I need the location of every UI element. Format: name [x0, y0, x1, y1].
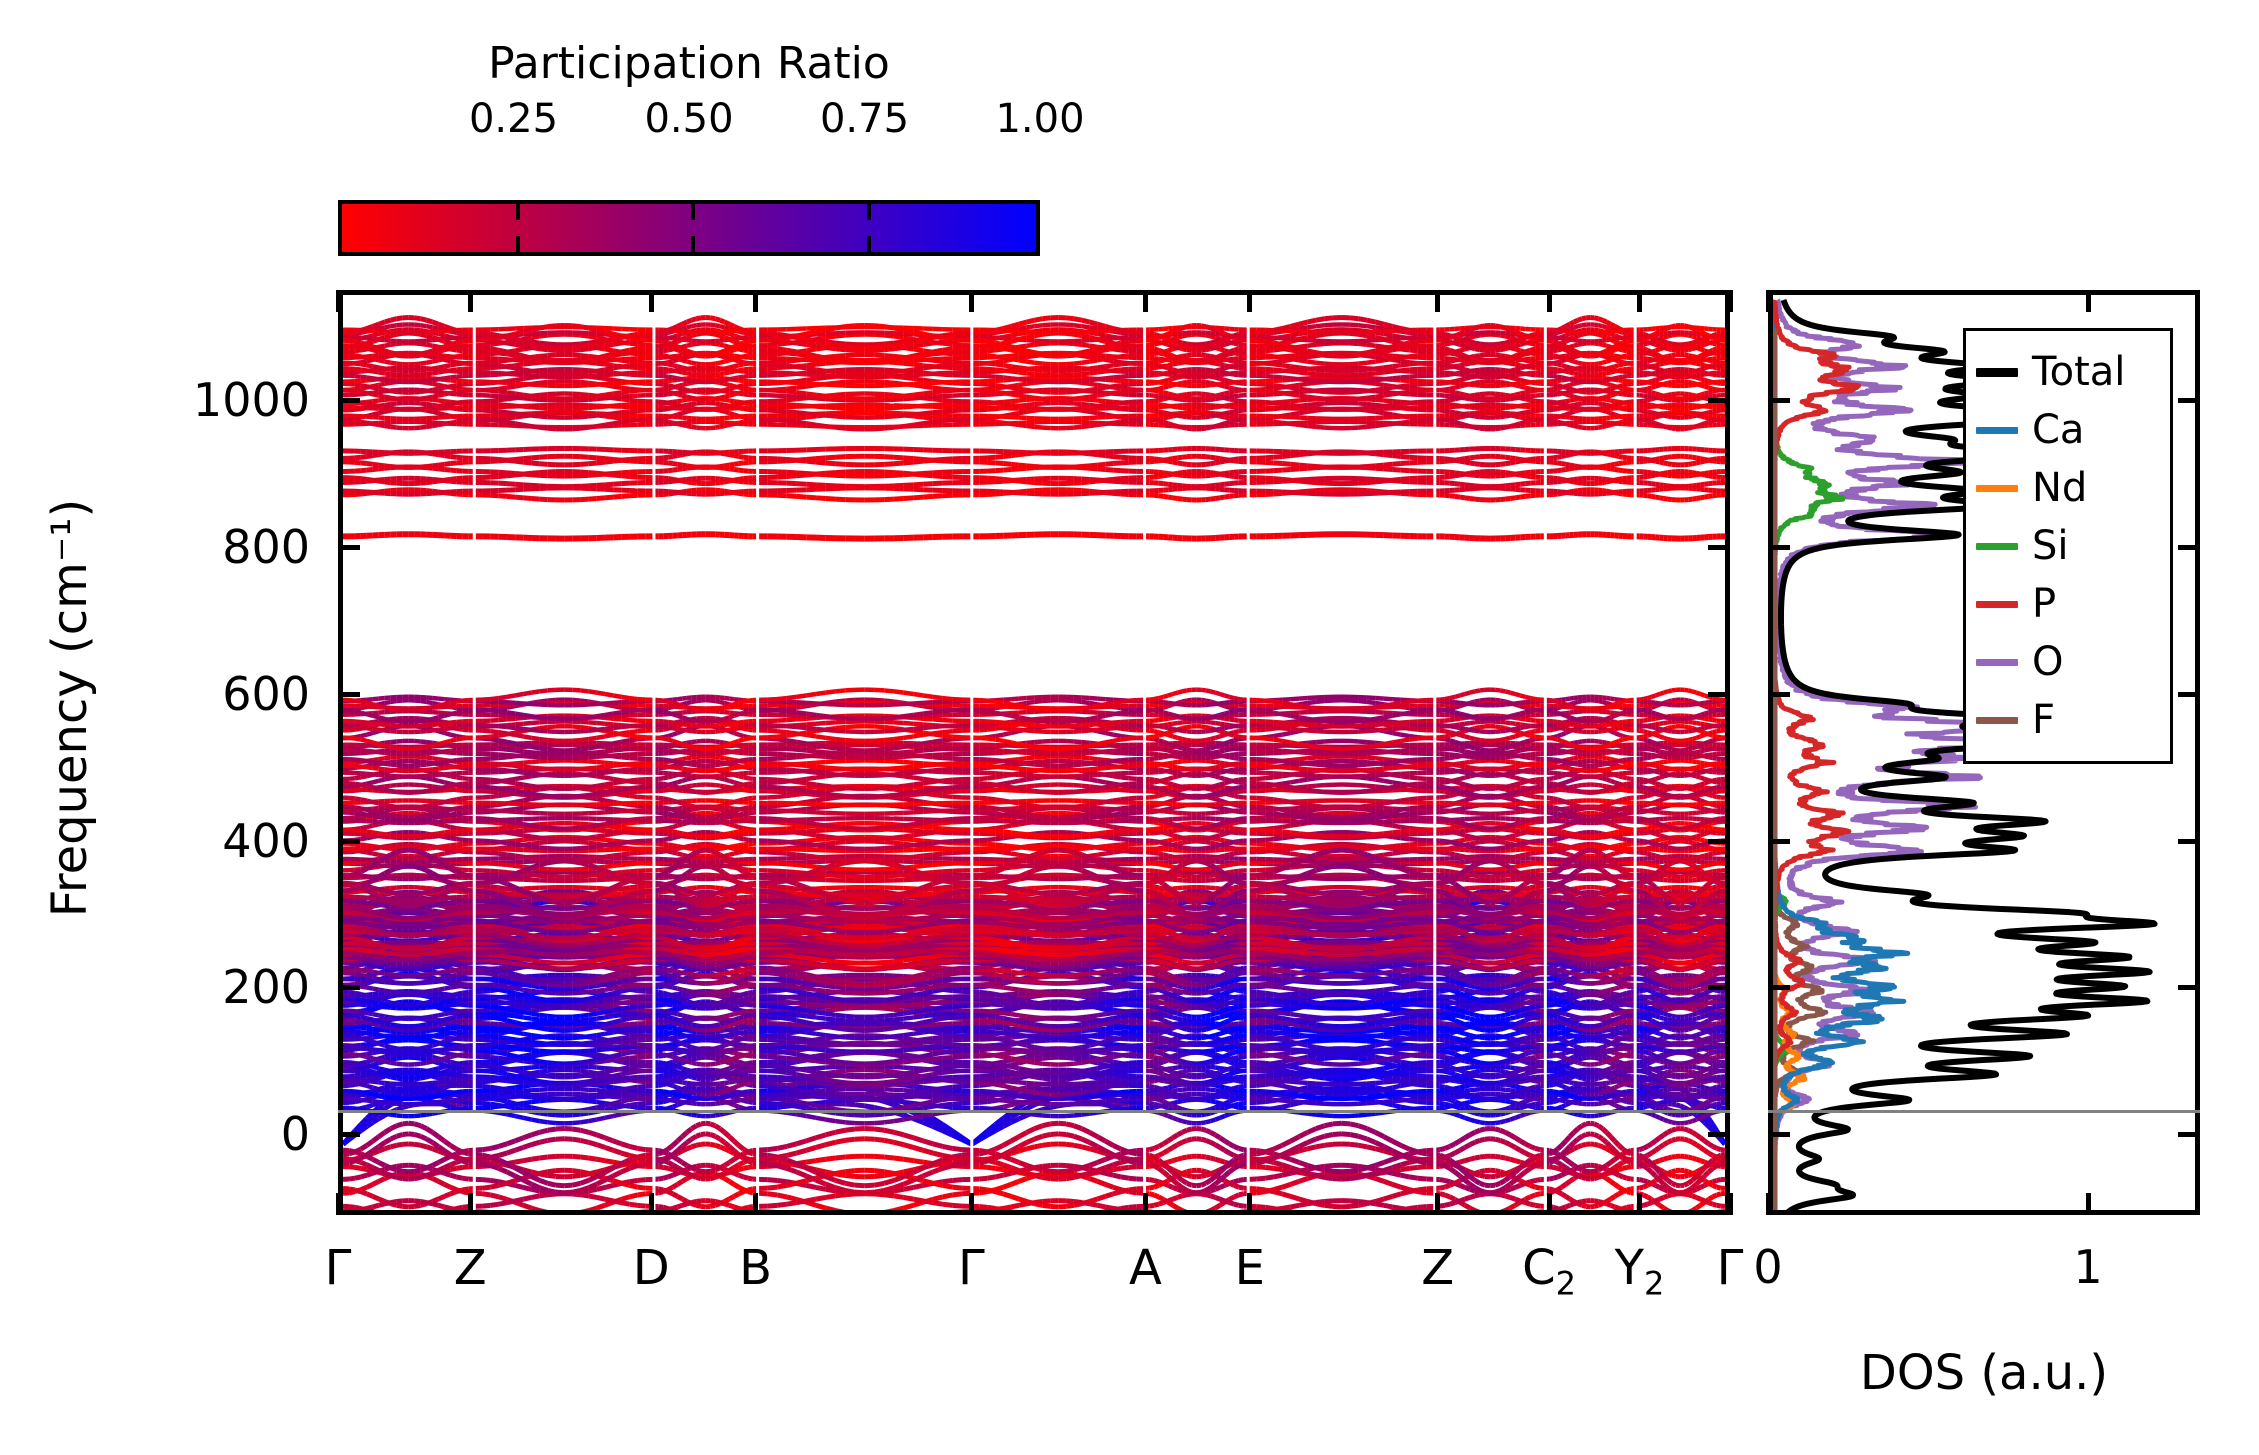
dos-y-axis-tick-mark — [1768, 692, 1790, 697]
colorbar-tick-mark — [516, 204, 520, 220]
x-axis-tick-label: B — [739, 1240, 772, 1296]
legend-item-o: O — [1976, 633, 2160, 691]
y-axis-tick-mark — [338, 985, 360, 990]
colorbar-tick-labels: 0.250.500.751.00 — [338, 96, 1040, 146]
dos-y-axis-tick-mark-right — [2178, 1132, 2200, 1137]
dos-zero-frequency-line — [1768, 1110, 2200, 1113]
legend-item-ca: Ca — [1976, 401, 2160, 459]
y-axis-tick-mark — [338, 398, 360, 403]
x-axis-tick-label: Z — [454, 1240, 487, 1296]
dos-y-axis-tick-mark — [1768, 1132, 1790, 1137]
legend-swatch-ca — [1976, 427, 2018, 434]
dos-x-axis-tick-label: 1 — [2073, 1240, 2102, 1294]
participation-ratio-colorbar — [338, 200, 1040, 256]
band-structure-axes — [338, 290, 1730, 1215]
legend-label: Nd — [2032, 468, 2087, 508]
legend-label: Ca — [2032, 410, 2084, 450]
y-axis-tick-mark — [338, 545, 360, 550]
y-axis-tick-mark-right — [1708, 985, 1730, 990]
colorbar-tick-label: 0.25 — [469, 96, 558, 142]
y-axis-tick-label: 200 — [222, 960, 310, 1014]
y-axis-tick-label: 600 — [222, 667, 310, 721]
zero-frequency-line — [338, 1110, 1730, 1113]
legend-swatch-nd — [1976, 485, 2018, 492]
y-axis-tick-mark-right — [1708, 398, 1730, 403]
legend-swatch-total — [1976, 368, 2018, 377]
y-axis-tick-mark — [338, 839, 360, 844]
colorbar-tick-mark — [867, 204, 871, 220]
y-axis-tick-label: 0 — [281, 1107, 310, 1161]
colorbar-tick-label: 0.75 — [820, 96, 909, 142]
x-axis-tick-label: Z — [1421, 1240, 1454, 1296]
x-axis-tick-label: D — [633, 1240, 670, 1296]
y-axis-tick-mark-right — [1708, 839, 1730, 844]
band-structure-plot — [343, 295, 1725, 1210]
dos-y-axis-tick-mark-right — [2178, 839, 2200, 844]
y-axis-tick-mark-right — [1708, 545, 1730, 550]
colorbar-tick-label: 1.00 — [995, 96, 1084, 142]
dos-y-axis-tick-mark-right — [2178, 692, 2200, 697]
colorbar-tick-mark — [691, 236, 695, 252]
y-axis-tick-label: 800 — [222, 520, 310, 574]
legend-swatch-p — [1976, 601, 2018, 608]
dos-y-axis-tick-mark-right — [2178, 985, 2200, 990]
y-axis-tick-labels: 02004006008001000 — [60, 0, 310, 1455]
x-axis-tick-label: E — [1235, 1240, 1265, 1296]
y-axis-tick-mark-right — [1708, 692, 1730, 697]
colorbar-tick-mark — [691, 204, 695, 220]
x-axis-tick-label: C2 — [1522, 1240, 1576, 1303]
legend-swatch-f — [1976, 717, 2018, 724]
legend-label: P — [2032, 584, 2056, 624]
legend-item-f: F — [1976, 691, 2160, 749]
x-axis-tick-label: Γ — [325, 1240, 352, 1296]
legend-item-nd: Nd — [1976, 459, 2160, 517]
dos-x-axis-tick-label: 0 — [1753, 1240, 1782, 1294]
colorbar-tick-mark — [867, 236, 871, 252]
x-axis-tick-label: Γ — [958, 1240, 985, 1296]
legend-item-si: Si — [1976, 517, 2160, 575]
dos-y-axis-tick-mark — [1768, 839, 1790, 844]
legend-label: Si — [2032, 526, 2069, 566]
dos-y-axis-tick-mark-right — [2178, 545, 2200, 550]
y-axis-tick-label: 400 — [222, 814, 310, 868]
x-axis-tick-label: A — [1129, 1240, 1162, 1296]
legend-swatch-si — [1976, 543, 2018, 550]
dos-x-axis-label: DOS (a.u.) — [1768, 1345, 2200, 1401]
dos-y-axis-tick-mark — [1768, 398, 1790, 403]
colorbar-tick-label: 0.50 — [644, 96, 733, 142]
colorbar-tick-mark — [516, 236, 520, 252]
y-axis-tick-mark — [338, 1132, 360, 1137]
colorbar-title: Participation Ratio — [338, 38, 1040, 90]
legend-item-total: Total — [1976, 343, 2160, 401]
y-axis-tick-mark-right — [1708, 1132, 1730, 1137]
dos-y-axis-tick-mark — [1768, 985, 1790, 990]
y-axis-tick-label: 1000 — [193, 373, 310, 427]
legend-swatch-o — [1976, 659, 2018, 666]
x-axis-tick-label: Γ — [1717, 1240, 1744, 1296]
dos-y-axis-tick-mark — [1768, 545, 1790, 550]
legend-label: Total — [2032, 352, 2125, 392]
dos-legend: TotalCaNdSiPOF — [1963, 328, 2173, 764]
legend-label: F — [2032, 700, 2055, 740]
dos-y-axis-tick-mark-right — [2178, 398, 2200, 403]
legend-item-p: P — [1976, 575, 2160, 633]
y-axis-tick-mark — [338, 692, 360, 697]
x-axis-tick-label: Y2 — [1615, 1240, 1665, 1303]
legend-label: O — [2032, 642, 2063, 682]
